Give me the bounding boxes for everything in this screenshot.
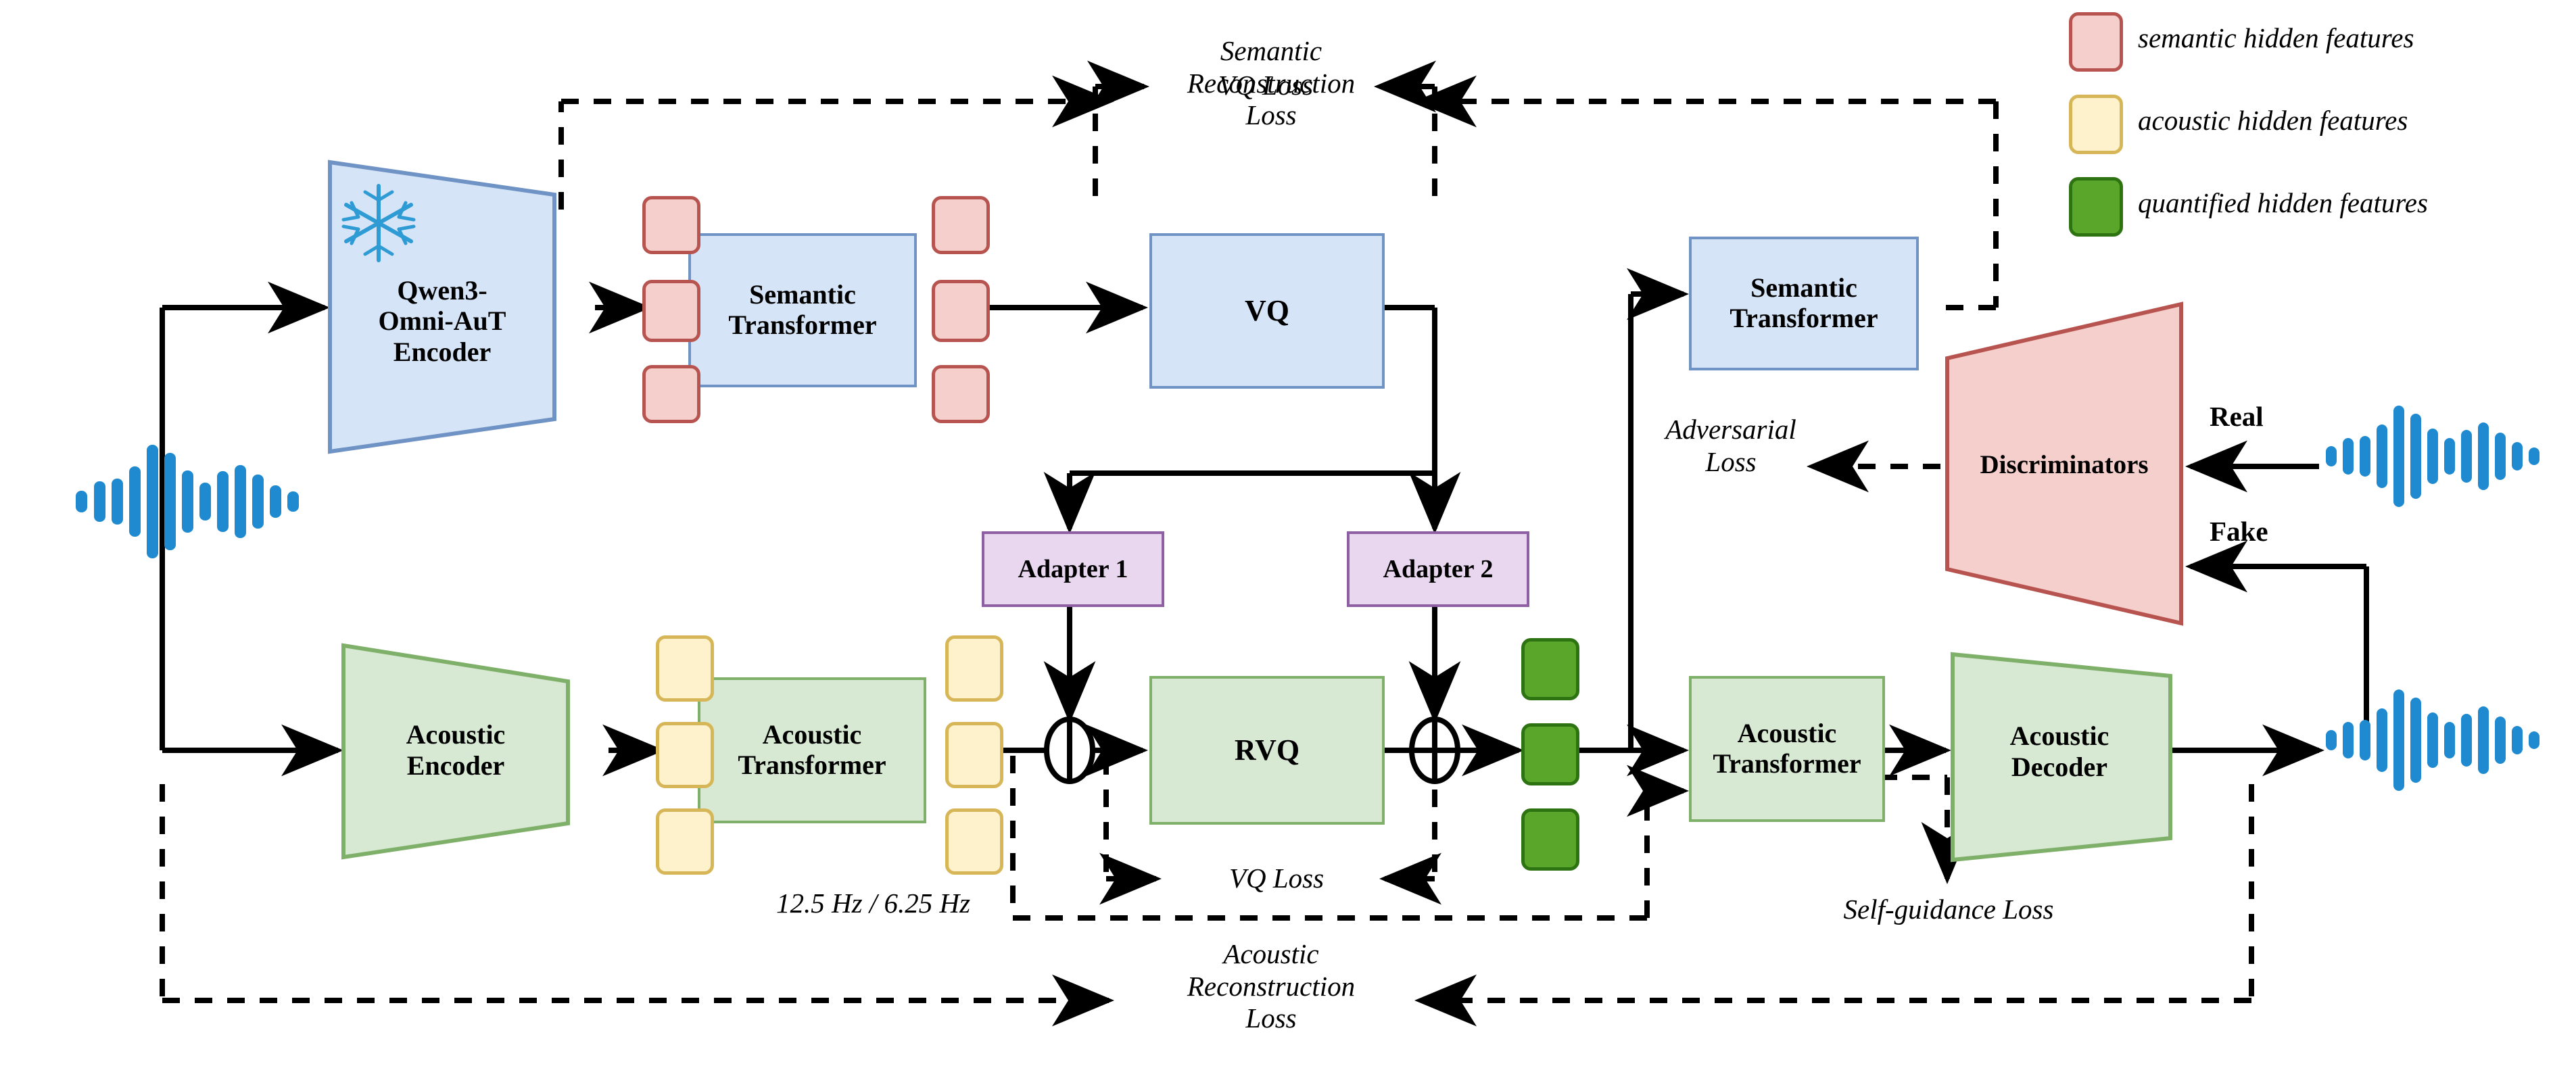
frame-rate-label: 12.5 Hz / 6.25 Hz (776, 887, 970, 919)
qwen-encoder-label: Qwen3-Omni-AuTEncoder (330, 223, 554, 419)
acoustic-encoder-label: AcousticEncoder (343, 683, 568, 818)
acoustic-feature-tile (945, 808, 1003, 875)
semantic-feature-tile (932, 280, 990, 342)
architecture-diagram: Qwen3-Omni-AuTEncoder AcousticEncoder Ac… (0, 0, 2576, 1091)
adapter-1[interactable]: Adapter 1 (982, 531, 1164, 607)
vq-block[interactable]: VQ (1149, 233, 1385, 389)
quantified-feature-tile (1521, 638, 1579, 700)
quantified-feature-tile (1521, 808, 1579, 871)
legend-swatch-acoustic (2069, 95, 2123, 154)
semantic-feature-tile (642, 280, 700, 342)
legend-swatch-semantic (2069, 12, 2123, 72)
fake-label: Fake (2210, 515, 2268, 548)
legend-swatch-quantified (2069, 177, 2123, 237)
real-label: Real (2210, 400, 2264, 433)
semantic-feature-tile (932, 196, 990, 254)
self-guidance-loss-label: Self-guidance Loss (1766, 894, 2131, 926)
acoustic-feature-tile (945, 635, 1003, 702)
legend-label-semantic: semantic hidden features (2138, 22, 2414, 54)
acoustic-reconstruction-loss-label: AcousticReconstructionLoss (1122, 938, 1420, 1035)
vq-loss-bottom-label: VQ Loss (1168, 863, 1385, 895)
acoustic-decoder-label: AcousticDecoder (1958, 684, 2161, 819)
audio-waveform-real (2326, 406, 2539, 507)
semantic-transformer-left[interactable]: SemanticTransformer (688, 233, 917, 387)
adversarial-loss-label: AdversarialLoss (1650, 414, 1812, 478)
audio-waveform-output (2326, 689, 2539, 791)
legend-label-acoustic: acoustic hidden features (2138, 104, 2408, 137)
semantic-feature-tile (642, 365, 700, 423)
acoustic-transformer-right[interactable]: AcousticTransformer (1689, 676, 1885, 822)
acoustic-feature-tile (656, 808, 714, 875)
acoustic-transformer-left[interactable]: AcousticTransformer (698, 677, 926, 823)
semantic-transformer-right[interactable]: SemanticTransformer (1689, 237, 1919, 370)
acoustic-feature-tile (656, 635, 714, 702)
connector-layer (0, 0, 2576, 1091)
semantic-feature-tile (932, 365, 990, 423)
adapter-2[interactable]: Adapter 2 (1347, 531, 1529, 607)
audio-waveform-input (76, 445, 299, 558)
semantic-feature-tile (642, 196, 700, 254)
rvq-block[interactable]: RVQ (1149, 676, 1385, 825)
acoustic-feature-tile (656, 722, 714, 788)
acoustic-feature-tile (945, 722, 1003, 788)
quantified-feature-tile (1521, 723, 1579, 785)
discriminators-label: Discriminators (1947, 441, 2181, 489)
legend-label-quantified: quantified hidden features (2138, 187, 2428, 219)
vq-loss-top-label: VQ Loss (1158, 70, 1374, 102)
